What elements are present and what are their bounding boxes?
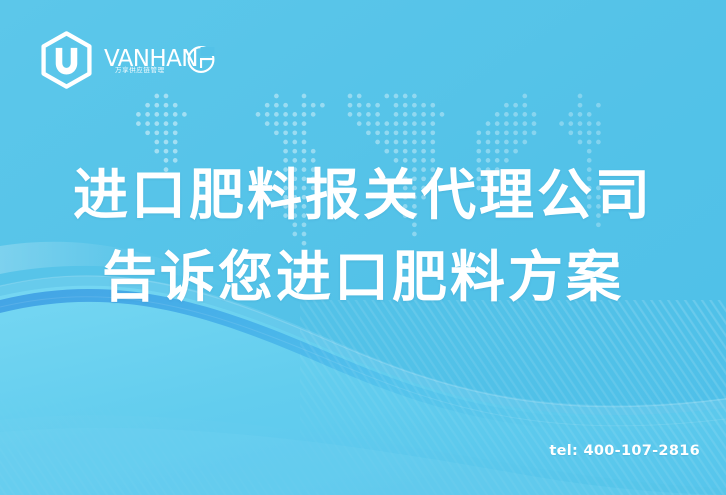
hexagon-u-logo-icon <box>38 31 95 89</box>
headline-block: 进口肥料报关代理公司 告诉您进口肥料方案 <box>0 168 726 305</box>
brand-logo[interactable]: VANHAN 万享供应链管理 <box>38 31 216 89</box>
headline-line-2: 告诉您进口肥料方案 <box>0 250 726 305</box>
headline-line-1: 进口肥料报关代理公司 <box>0 168 726 223</box>
brand-wordmark-wrap: VANHAN 万享供应链管理 <box>104 38 216 82</box>
contact-phone[interactable]: tel: 400-107-2816 <box>549 443 700 459</box>
brand-subtitle: 万享供应链管理 <box>115 64 165 74</box>
promo-banner: VANHAN 万享供应链管理 进口肥料报关代理公司 告诉您进口肥料方案 tel:… <box>0 0 726 495</box>
